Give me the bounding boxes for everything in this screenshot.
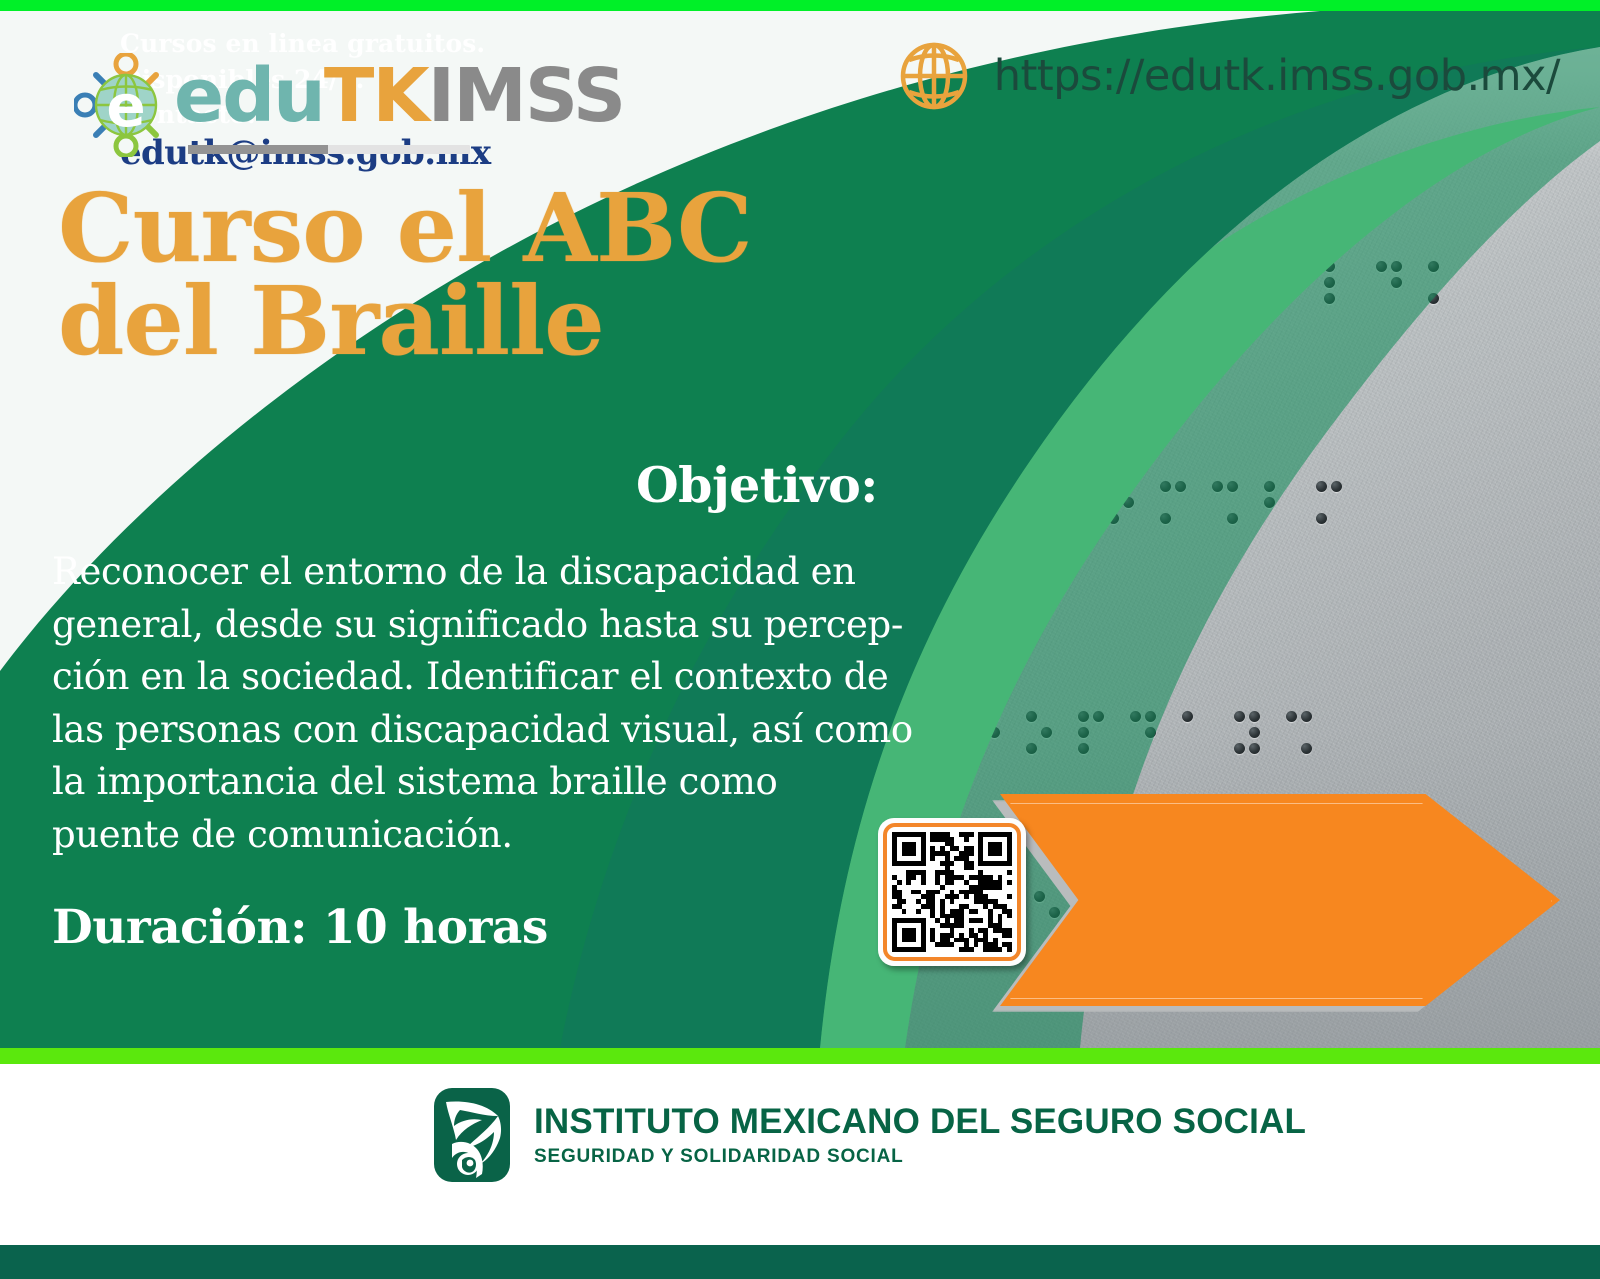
imss-emblem-icon bbox=[432, 1086, 512, 1184]
objective-heading: Objetivo: bbox=[636, 456, 878, 514]
logo-word-edu: edu bbox=[174, 53, 324, 139]
svg-text:e: e bbox=[106, 72, 145, 140]
globe-icon bbox=[896, 38, 972, 114]
objective-line: general, desde su significado hasta su p… bbox=[52, 599, 897, 652]
logo-wordmark: eduTKIMSS bbox=[174, 51, 624, 141]
title-line-1: Curso el ABC bbox=[58, 182, 752, 275]
globe-e-icon: e bbox=[74, 53, 178, 157]
poster-header: e eduTKIMSS https://edutk.imss.gob.mx/ bbox=[0, 11, 1600, 141]
qr-code-image bbox=[892, 832, 1012, 952]
objective-line: la importancia del sistema braille como bbox=[52, 756, 897, 809]
website-url-text[interactable]: https://edutk.imss.gob.mx/ bbox=[994, 51, 1560, 101]
course-poster: e eduTKIMSS https://edutk.imss.gob.mx/ bbox=[0, 0, 1600, 1279]
imss-institution-name: INSTITUTO MEXICANO DEL SEGURO SOCIAL bbox=[534, 1102, 1306, 1142]
website-url-group[interactable]: https://edutk.imss.gob.mx/ bbox=[896, 31, 1560, 121]
imss-logo-lockup: INSTITUTO MEXICANO DEL SEGURO SOCIAL SEG… bbox=[432, 1086, 1306, 1184]
course-duration: Duración: 10 horas bbox=[52, 900, 548, 955]
objective-body: Reconocer el entorno de la discapacidad … bbox=[52, 546, 897, 861]
top-green-rule bbox=[0, 0, 1600, 11]
poster-footer: INSTITUTO MEXICANO DEL SEGURO SOCIAL SEG… bbox=[0, 1064, 1600, 1245]
imss-tagline: SEGURIDAD Y SOLIDARIDAD SOCIAL bbox=[534, 1146, 1306, 1168]
edutkimss-logo[interactable]: e eduTKIMSS bbox=[36, 29, 436, 147]
mid-green-rule bbox=[0, 1048, 1600, 1064]
qr-code-frame bbox=[883, 823, 1021, 961]
bottom-teal-bar bbox=[0, 1245, 1600, 1279]
objective-line: puente de comunicación. bbox=[52, 809, 897, 862]
qr-code-card[interactable] bbox=[878, 818, 1026, 966]
logo-word-tk: TK bbox=[324, 53, 428, 139]
objective-line: las personas con discapacidad visual, as… bbox=[52, 704, 897, 757]
objective-line: ción en la sociedad. Identificar el cont… bbox=[52, 651, 897, 704]
objective-line: Reconocer el entorno de la discapacidad … bbox=[52, 546, 897, 599]
imss-wordmark: INSTITUTO MEXICANO DEL SEGURO SOCIAL SEG… bbox=[534, 1102, 1306, 1168]
logo-underline-bar bbox=[188, 145, 470, 154]
page-title: Curso el ABC del Braille bbox=[58, 182, 752, 368]
logo-word-imss: IMSS bbox=[428, 53, 624, 139]
title-line-2: del Braille bbox=[58, 275, 752, 368]
callout-arrow-hairline bbox=[1010, 803, 1552, 999]
